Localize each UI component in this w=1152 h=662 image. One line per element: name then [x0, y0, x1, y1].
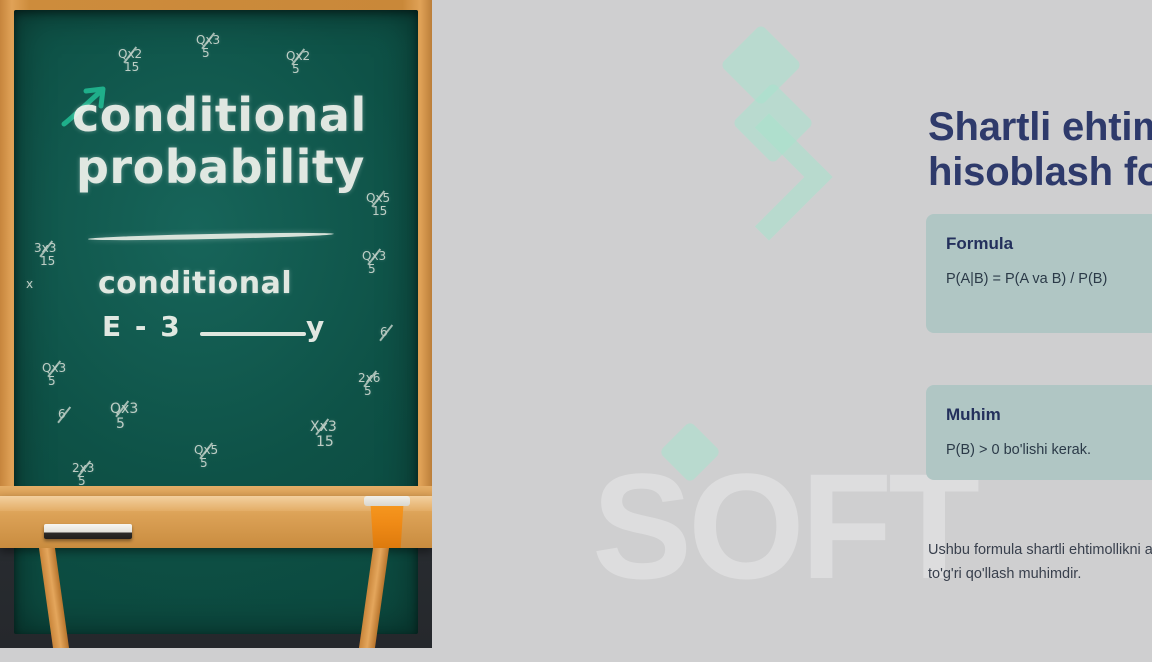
chalk-equation-line	[200, 332, 306, 336]
chalk-underline	[88, 231, 334, 241]
chalk-subheading: conditional	[98, 266, 292, 301]
card-formula-body: P(A|B) = P(A va B) / P(B)	[946, 268, 1152, 291]
chalk-scribble: 6	[374, 326, 388, 339]
chalkboard-illustration: Qx2 15 Qx3 5 Qx2 5 Qx5 15 conditional	[0, 0, 432, 648]
chalk-equation-tail: y	[306, 310, 326, 343]
chalk-scribble: Qx5 15	[366, 192, 390, 217]
card-muhim-body: P(B) > 0 bo'lishi kerak.	[946, 439, 1152, 462]
watermark-text: SOFT	[592, 440, 976, 613]
chalk-scribble: 2x3 5	[72, 462, 94, 487]
chalk-heading-line2: probability	[76, 140, 365, 194]
page-title: Shartli ehtimollikni hisoblash formulasi	[928, 105, 1152, 196]
page-title-line2: hisoblash formulasi	[928, 150, 1152, 194]
summary-paragraph: Ushbu formula shartli ehtimollikni aniq …	[928, 538, 1152, 588]
chalk-scribble: Qx5 5	[194, 444, 218, 469]
coffee-cup	[368, 500, 406, 548]
card-muhim-title: Muhim	[946, 405, 1152, 425]
card-formula: Formula P(A|B) = P(A va B) / P(B)	[926, 214, 1152, 333]
chalk-scribble: Qx2 5	[286, 50, 310, 75]
chalk-scribble: 3x3 15	[34, 242, 56, 267]
slide-root: Qx2 15 Qx3 5 Qx2 5 Qx5 15 conditional	[0, 0, 1152, 648]
eraser	[44, 524, 132, 539]
chalk-scribble: Qx3 5	[42, 362, 66, 387]
card-muhim: Muhim P(B) > 0 bo'lishi kerak.	[926, 385, 1152, 480]
coffee-cup-lid	[364, 496, 410, 506]
chalk-scribble: Qx3 5	[362, 250, 386, 275]
chalk-scribble: 6	[52, 408, 66, 421]
page-title-line1: Shartli ehtimollikni	[928, 105, 1152, 149]
card-muhim-wrapper: Muhim P(B) > 0 bo'lishi kerak.	[926, 385, 1152, 480]
chalk-scribble: Xx3 15	[310, 420, 337, 449]
chalk-scribble: 2x6 5	[358, 372, 380, 397]
chalk-scribble: x	[26, 278, 33, 291]
chalk-scribble: Qx2 15	[118, 48, 142, 73]
chalk-scribble: Qx3 5	[110, 402, 138, 431]
chalk-scribble: Qx3 5	[196, 34, 220, 59]
cards-row: Formula P(A|B) = P(A va B) / P(B) Izoh P…	[926, 214, 1152, 333]
card-formula-title: Formula	[946, 234, 1152, 254]
chalk-equation: E - 3	[102, 310, 182, 343]
content-pane: SOFT Shartli ehtimollikni hisoblash form…	[432, 0, 1152, 648]
chalk-heading-line1: conditional	[72, 88, 367, 142]
